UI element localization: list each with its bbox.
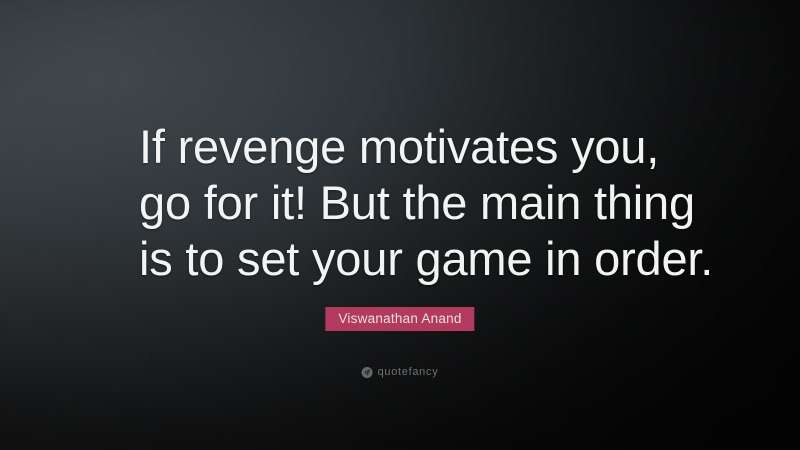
quote-line-2: go for it! But the main thing xyxy=(139,175,699,231)
author-badge[interactable]: Viswanathan Anand xyxy=(325,307,474,331)
quotefancy-logo-icon: qf xyxy=(362,367,373,378)
author-name: Viswanathan Anand xyxy=(338,312,461,326)
quotefancy-watermark[interactable]: qf quotefancy xyxy=(362,367,439,378)
quotefancy-brand-label: quotefancy xyxy=(378,367,439,378)
quote-image-canvas: If revenge motivates you, go for it! But… xyxy=(0,0,800,450)
quote-text: If revenge motivates you, go for it! But… xyxy=(139,119,699,287)
quote-line-3: is to set your game in order. xyxy=(139,231,699,287)
quote-line-1: If revenge motivates you, xyxy=(139,119,699,175)
quotefancy-logo-initials: qf xyxy=(365,370,370,376)
